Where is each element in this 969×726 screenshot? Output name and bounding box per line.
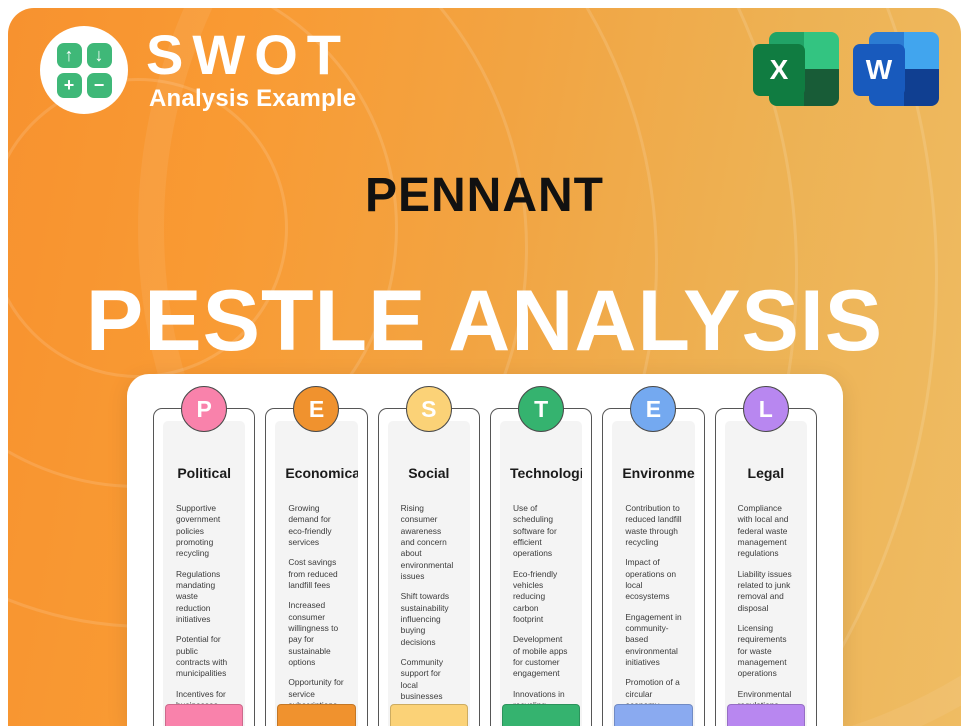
- pestle-column-environment[interactable]: E Environment Contribution to reduced la…: [602, 408, 704, 726]
- pestle-column-political[interactable]: P Political Supportive government polici…: [153, 408, 255, 726]
- column-inner-environment: Environment Contribution to reduced land…: [612, 421, 694, 726]
- column-inner-social: Social Rising consumer awareness and con…: [388, 421, 470, 726]
- arrow-down-icon: ↓: [87, 43, 112, 68]
- point-item: Potential for public contracts with muni…: [176, 634, 232, 679]
- office-format-icons: X W: [753, 26, 939, 112]
- column-points-social: Rising consumer awareness and concern ab…: [398, 503, 460, 726]
- column-inner-political: Political Supportive government policies…: [163, 421, 245, 726]
- point-item: Eco-friendly vehicles reducing carbon fo…: [513, 569, 569, 626]
- point-item: Liability issues related to junk removal…: [738, 569, 794, 614]
- column-points-environment: Contribution to reduced landfill waste t…: [622, 503, 684, 726]
- point-item: Regulations mandating waste reduction in…: [176, 569, 232, 626]
- brand-title: SWOT: [146, 27, 356, 83]
- point-item: Engagement in community-based environmen…: [625, 612, 681, 669]
- point-item: Supportive government policies promoting…: [176, 503, 232, 560]
- column-points-legal: Compliance with local and federal waste …: [735, 503, 797, 726]
- minus-icon: −: [87, 73, 112, 98]
- badge-technological: T: [518, 386, 564, 432]
- column-title-economical: Economical: [285, 465, 347, 481]
- subject-title: PENNANT: [0, 168, 969, 223]
- pestle-columns: P Political Supportive government polici…: [153, 408, 817, 726]
- column-inner-economical: Economical Growing demand for eco-friend…: [275, 421, 357, 726]
- swot-quad-icon: ↑ ↓ + −: [57, 43, 112, 98]
- excel-icon[interactable]: X: [753, 26, 839, 112]
- point-item: Growing demand for eco-friendly services: [288, 503, 344, 548]
- brand-subtitle: Analysis Example: [149, 85, 356, 113]
- word-icon[interactable]: W: [853, 26, 939, 112]
- column-points-economical: Growing demand for eco-friendly services…: [285, 503, 347, 726]
- point-item: Increased consumer willingness to pay fo…: [288, 600, 344, 668]
- arrow-up-icon: ↑: [57, 43, 82, 68]
- column-points-technological: Use of scheduling software for efficient…: [510, 503, 572, 726]
- point-item: Rising consumer awareness and concern ab…: [401, 503, 457, 582]
- excel-icon-letter: X: [753, 44, 805, 96]
- pestle-column-social[interactable]: S Social Rising consumer awareness and c…: [378, 408, 480, 726]
- swot-logo-badge: ↑ ↓ + −: [40, 26, 128, 114]
- page-title: PESTLE ANALYSIS: [0, 272, 969, 371]
- point-item: Shift towards sustainability influencing…: [401, 591, 457, 648]
- brand-lockup: ↑ ↓ + − SWOT Analysis Example: [40, 26, 356, 114]
- point-item: Use of scheduling software for efficient…: [513, 503, 569, 560]
- column-footer-bar-environment: [614, 704, 692, 726]
- badge-environment: E: [630, 386, 676, 432]
- point-item: Contribution to reduced landfill waste t…: [625, 503, 681, 548]
- point-item: Licensing requirements for waste managem…: [738, 623, 794, 680]
- badge-legal: L: [743, 386, 789, 432]
- pestle-column-technological[interactable]: T Technological Use of scheduling softwa…: [490, 408, 592, 726]
- column-title-social: Social: [398, 465, 460, 481]
- slide-canvas: ↑ ↓ + − SWOT Analysis Example X W PENNAN…: [0, 0, 969, 726]
- column-title-political: Political: [173, 465, 235, 481]
- column-footer-bar-economical: [277, 704, 355, 726]
- plus-icon: +: [57, 73, 82, 98]
- pestle-column-legal[interactable]: L Legal Compliance with local and federa…: [715, 408, 817, 726]
- badge-economical: E: [293, 386, 339, 432]
- badge-political: P: [181, 386, 227, 432]
- point-item: Development of mobile apps for customer …: [513, 634, 569, 679]
- column-footer-bar-technological: [502, 704, 580, 726]
- column-title-environment: Environment: [622, 465, 684, 481]
- column-inner-legal: Legal Compliance with local and federal …: [725, 421, 807, 726]
- column-footer-bar-social: [390, 704, 468, 726]
- point-item: Impact of operations on local ecosystems: [625, 557, 681, 602]
- pestle-board: P Political Supportive government polici…: [127, 374, 843, 726]
- point-item: Cost savings from reduced landfill fees: [288, 557, 344, 591]
- column-title-legal: Legal: [735, 465, 797, 481]
- word-icon-letter: W: [853, 44, 905, 96]
- column-points-political: Supportive government policies promoting…: [173, 503, 235, 726]
- brand-text: SWOT Analysis Example: [146, 27, 356, 113]
- column-title-technological: Technological: [510, 465, 572, 481]
- column-footer-bar-legal: [727, 704, 805, 726]
- badge-social: S: [406, 386, 452, 432]
- pestle-column-economical[interactable]: E Economical Growing demand for eco-frie…: [265, 408, 367, 726]
- point-item: Compliance with local and federal waste …: [738, 503, 794, 560]
- column-footer-bar-political: [165, 704, 243, 726]
- column-inner-technological: Technological Use of scheduling software…: [500, 421, 582, 726]
